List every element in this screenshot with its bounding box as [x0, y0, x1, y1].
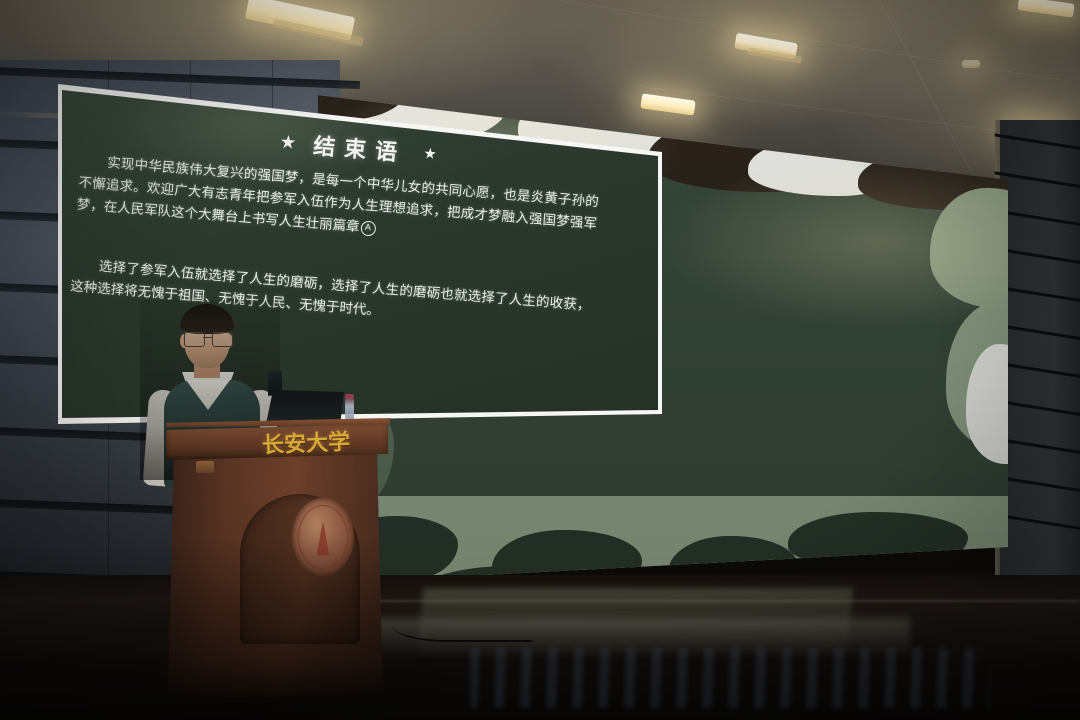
- podium-badge: [196, 461, 214, 473]
- cable: [392, 600, 532, 642]
- glasses-icon: [184, 332, 231, 345]
- slide-paragraph-1-text: 实现中华民族伟大复兴的强国梦，是每一个中华儿女的共同心愿，也是炎黄子孙的不懈追求…: [76, 155, 599, 234]
- slide-title-row: 结束语: [279, 126, 437, 170]
- glasses-bridge: [203, 337, 212, 338]
- star-icon-left: [280, 134, 296, 150]
- camo-blob: [788, 512, 968, 570]
- lens-left: [184, 332, 205, 347]
- ceiling-light-6: [962, 60, 980, 68]
- podium-inscription: 长安大学: [261, 423, 390, 458]
- slide-title: 结束语: [312, 128, 407, 167]
- slide-paragraph-1: 实现中华民族伟大复兴的强国梦，是每一个中华儿女的共同心愿，也是炎黄子孙的不懈追求…: [76, 150, 600, 257]
- lecture-hall-photo: 结束语 实现中华民族伟大复兴的强国梦，是每一个中华儿女的共同心愿，也是炎黄子孙的…: [0, 0, 1080, 720]
- lens-right: [212, 332, 233, 347]
- audience-reflection: [470, 648, 990, 708]
- hair: [180, 304, 234, 334]
- end-mark-icon: A: [360, 220, 376, 236]
- star-icon-right: [424, 147, 437, 160]
- university-seal-emblem: [292, 498, 354, 576]
- water-bottle: [345, 398, 354, 420]
